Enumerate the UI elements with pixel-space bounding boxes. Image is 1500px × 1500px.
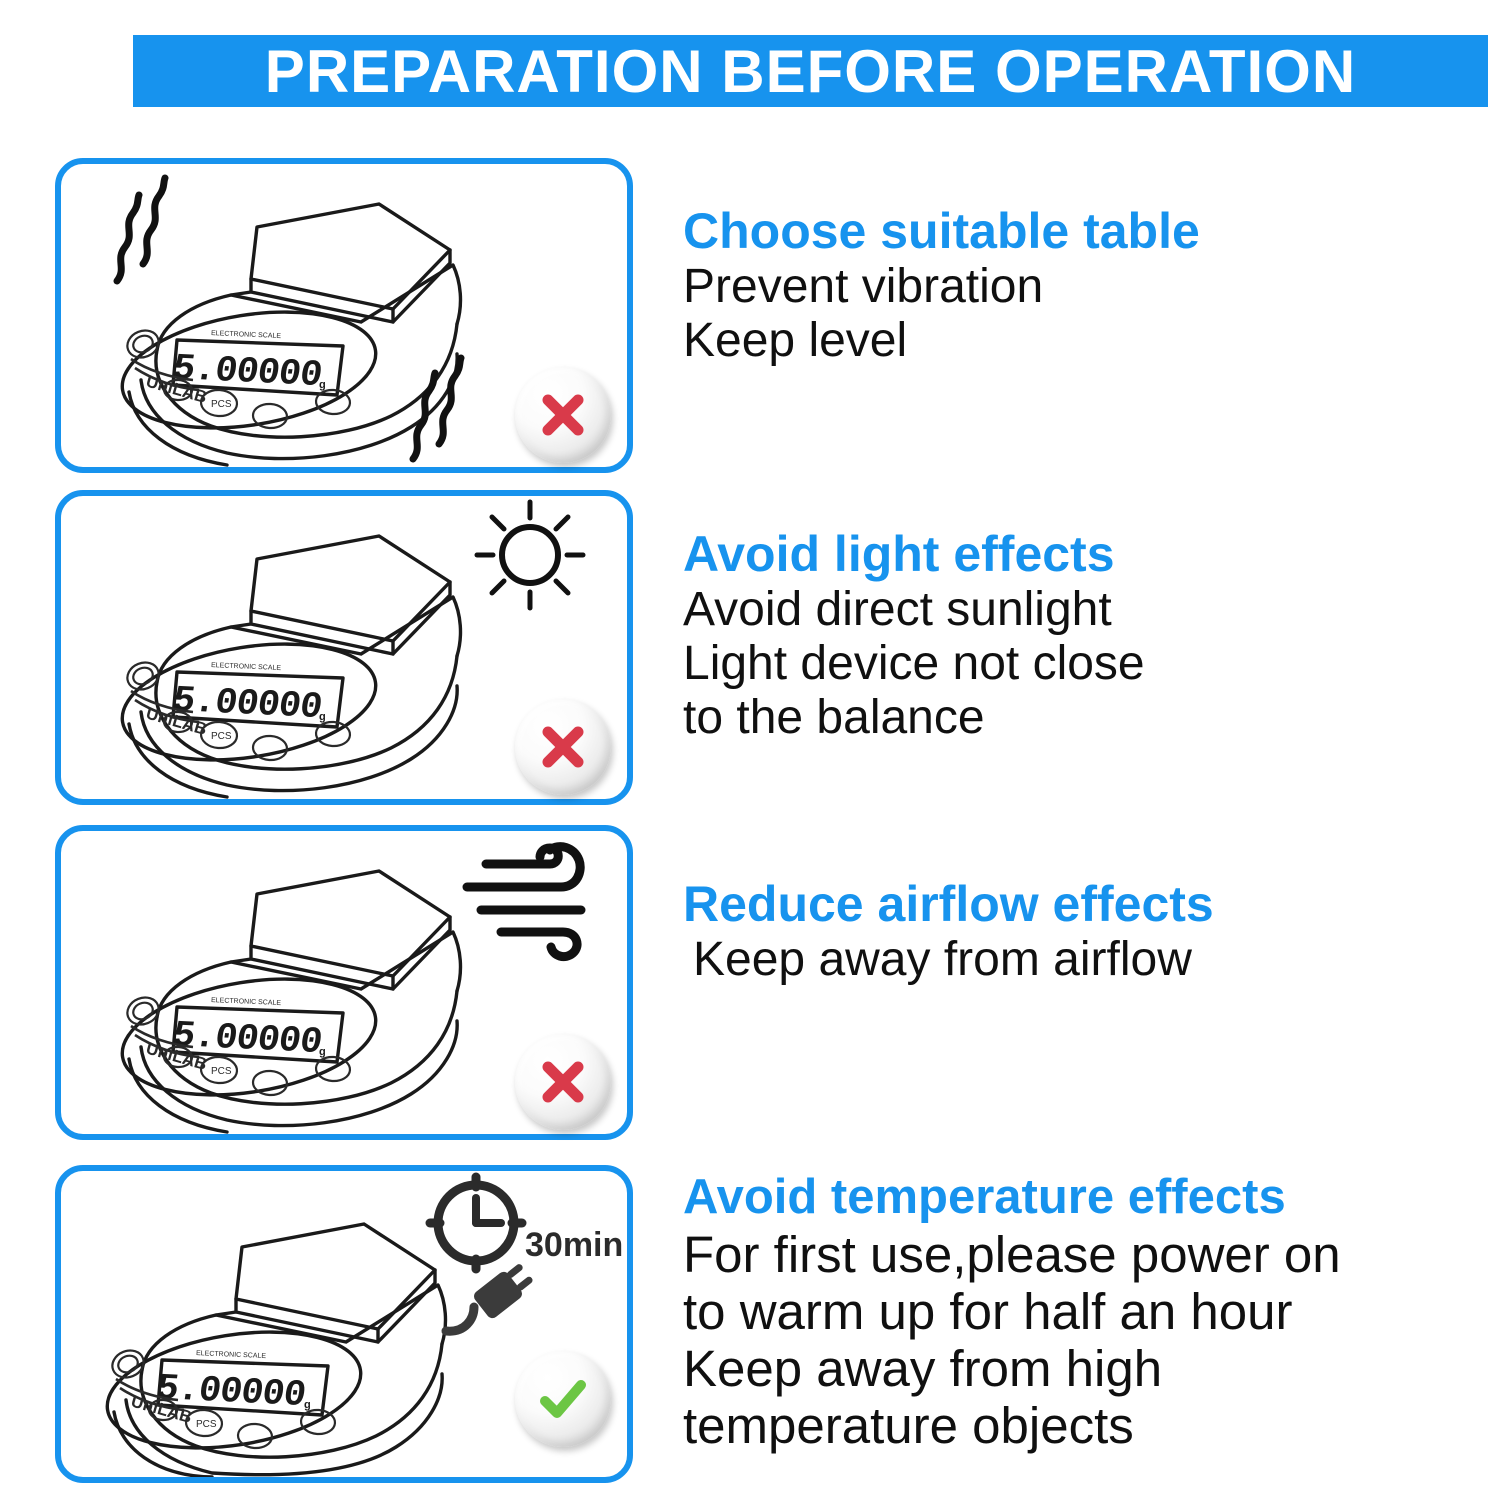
instruction-text-avoid-light-effects: Avoid light effects Avoid direct sunligh… <box>683 528 1483 744</box>
instruction-line: Keep away from airflow <box>683 933 1483 987</box>
vibration-waves-icon-2 <box>413 358 461 459</box>
instruction-line: Prevent vibration <box>683 260 1483 314</box>
display-caption: ELECTRONIC SCALE <box>211 330 282 340</box>
display-unit: g <box>304 1399 311 1411</box>
instruction-line: to the balance <box>683 691 1483 745</box>
header-banner: PREPARATION BEFORE OPERATION <box>133 35 1488 107</box>
cross-badge <box>515 1034 611 1130</box>
instruction-line: temperature objects <box>683 1397 1483 1454</box>
check-icon <box>533 1369 593 1429</box>
instruction-heading: Choose suitable table <box>683 205 1483 258</box>
instruction-text-reduce-airflow-effects: Reduce airflow effects Keep away from ai… <box>683 878 1483 987</box>
button-label-pcs: PCS <box>211 399 232 410</box>
display-caption: ELECTRONIC SCALE <box>211 997 282 1007</box>
instruction-text-choose-suitable-table: Choose suitable table Prevent vibration … <box>683 205 1483 368</box>
instruction-line: Keep level <box>683 314 1483 368</box>
instruction-heading: Avoid temperature effects <box>683 1172 1483 1224</box>
instruction-heading: Reduce airflow effects <box>683 878 1483 931</box>
cross-icon <box>535 387 591 443</box>
vibration-waves-icon <box>117 178 165 281</box>
display-caption: ELECTRONIC SCALE <box>196 1350 267 1360</box>
instruction-line: Avoid direct sunlight <box>683 583 1483 637</box>
clock-duration-label: 30min <box>525 1226 623 1265</box>
instruction-line: Light device not close <box>683 637 1483 691</box>
instruction-line: to warm up for half an hour <box>683 1283 1483 1340</box>
sun-icon <box>477 502 583 608</box>
cross-badge <box>515 367 611 463</box>
page-title: PREPARATION BEFORE OPERATION <box>265 37 1356 106</box>
display-unit: g <box>319 711 326 723</box>
illustration-panel-avoid-light-effects: ELECTRONIC SCALE 5.00000 g UniLAB PCS <box>55 490 633 805</box>
instruction-line: Keep away from high <box>683 1340 1483 1397</box>
button-label-pcs: PCS <box>211 731 232 742</box>
illustration-panel-reduce-airflow-effects: ELECTRONIC SCALE 5.00000 g UniLAB PCS <box>55 825 633 1140</box>
button-label-pcs: PCS <box>196 1419 217 1430</box>
cross-icon <box>535 1054 591 1110</box>
clock-icon <box>430 1177 522 1269</box>
check-badge <box>515 1351 611 1447</box>
illustration-panel-avoid-temperature-effects: ELECTRONIC SCALE 5.00000 g UniLAB PCS <box>55 1165 633 1483</box>
wind-icon <box>467 847 581 957</box>
instruction-text-avoid-temperature-effects: Avoid temperature effects For first use,… <box>683 1172 1483 1454</box>
display-unit: g <box>319 379 326 391</box>
power-plug-icon <box>446 1260 537 1332</box>
instruction-line: For first use,please power on <box>683 1226 1483 1283</box>
cross-badge <box>515 699 611 795</box>
instruction-heading: Avoid light effects <box>683 528 1483 581</box>
button-label-pcs: PCS <box>211 1066 232 1077</box>
cross-icon <box>535 719 591 775</box>
display-caption: ELECTRONIC SCALE <box>211 662 282 672</box>
display-unit: g <box>319 1046 326 1058</box>
illustration-panel-choose-suitable-table: ELECTRONIC SCALE 5.00000 g UniLAB PCS <box>55 158 633 473</box>
